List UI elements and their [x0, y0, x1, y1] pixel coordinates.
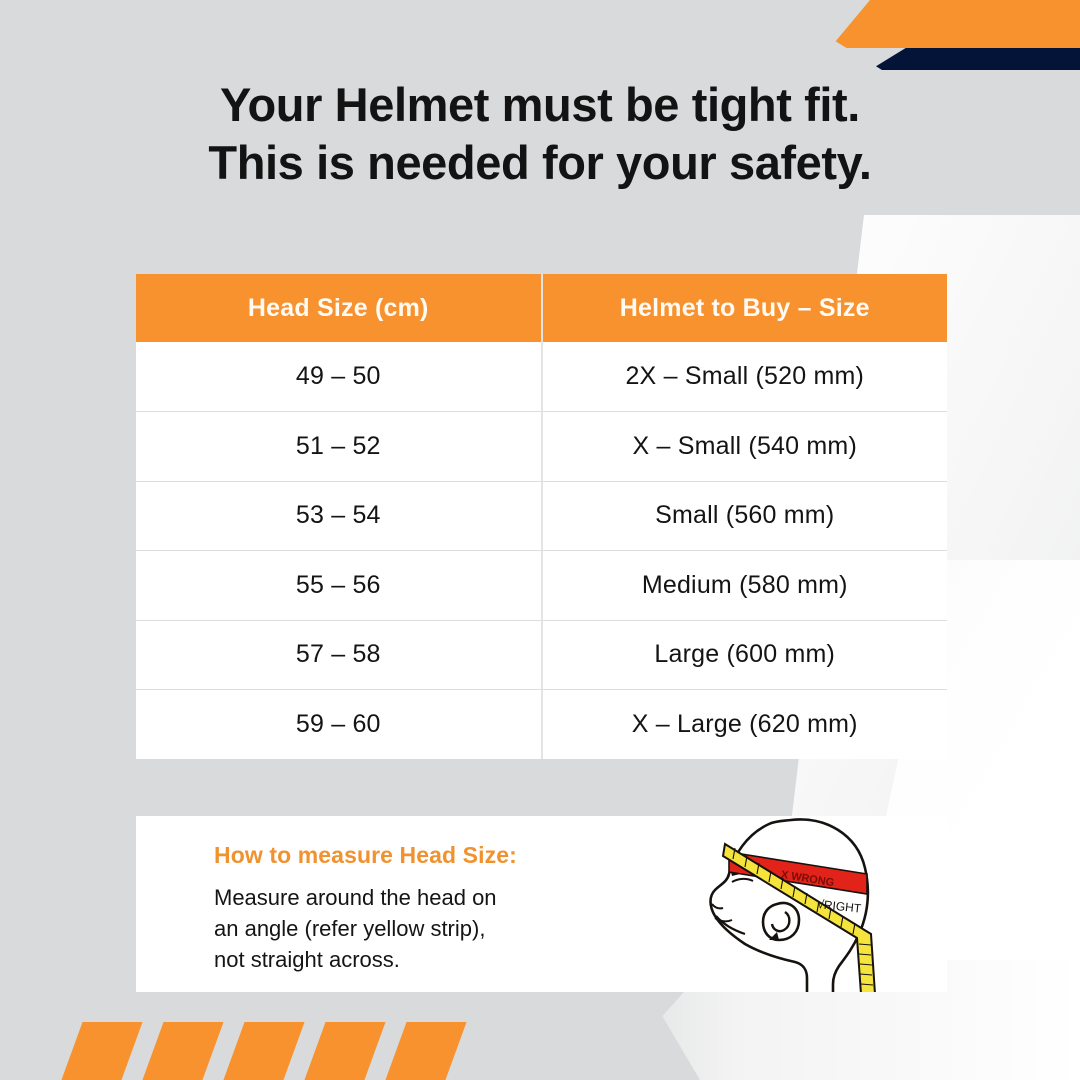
orange-stripe [61, 1022, 142, 1080]
column-header-helmet-size: Helmet to Buy – Size [542, 274, 948, 342]
cell-head-size: 53 – 54 [136, 481, 542, 551]
table-row: 53 – 54 Small (560 mm) [136, 481, 947, 551]
column-header-head-size: Head Size (cm) [136, 274, 542, 342]
top-right-orange-band [830, 0, 1080, 48]
cell-helmet-size: X – Small (540 mm) [542, 412, 948, 482]
bottom-left-orange-stripes [72, 1022, 492, 1080]
cell-helmet-size: Small (560 mm) [542, 481, 948, 551]
cell-head-size: 49 – 50 [136, 342, 542, 412]
head-measurement-illustration: X WRONG [699, 816, 911, 992]
orange-stripe [385, 1022, 466, 1080]
how-to-measure-body: Measure around the head on an angle (ref… [214, 882, 614, 975]
table-row: 59 – 60 X – Large (620 mm) [136, 690, 947, 760]
table-header: Head Size (cm) Helmet to Buy – Size [136, 274, 947, 342]
orange-stripe [223, 1022, 304, 1080]
orange-stripe [304, 1022, 385, 1080]
page-title: Your Helmet must be tight fit. This is n… [0, 76, 1080, 192]
cell-head-size: 59 – 60 [136, 690, 542, 760]
orange-stripe [142, 1022, 223, 1080]
cell-helmet-size: 2X – Small (520 mm) [542, 342, 948, 412]
table-header-row: Head Size (cm) Helmet to Buy – Size [136, 274, 947, 342]
how-to-measure-title: How to measure Head Size: [214, 842, 614, 869]
body-line-1: Measure around the head on [214, 882, 614, 913]
cell-helmet-size: Large (600 mm) [542, 620, 948, 690]
how-to-measure-card: How to measure Head Size: Measure around… [136, 816, 947, 992]
table-row: 51 – 52 X – Small (540 mm) [136, 412, 947, 482]
body-line-2: an angle (refer yellow strip), [214, 913, 614, 944]
cell-helmet-size: X – Large (620 mm) [542, 690, 948, 760]
table-body: 49 – 50 2X – Small (520 mm) 51 – 52 X – … [136, 342, 947, 759]
body-line-3: not straight across. [214, 944, 614, 975]
helmet-size-table: Head Size (cm) Helmet to Buy – Size 49 –… [136, 274, 947, 759]
cell-head-size: 57 – 58 [136, 620, 542, 690]
headline-line-1: Your Helmet must be tight fit. [0, 76, 1080, 134]
headline-line-2: This is needed for your safety. [0, 134, 1080, 192]
table-row: 57 – 58 Large (600 mm) [136, 620, 947, 690]
how-to-measure-text-block: How to measure Head Size: Measure around… [214, 842, 614, 975]
table-row: 55 – 56 Medium (580 mm) [136, 551, 947, 621]
cell-helmet-size: Medium (580 mm) [542, 551, 948, 621]
cell-head-size: 51 – 52 [136, 412, 542, 482]
cell-head-size: 55 – 56 [136, 551, 542, 621]
top-right-navy-band [870, 48, 1080, 70]
table-row: 49 – 50 2X – Small (520 mm) [136, 342, 947, 412]
